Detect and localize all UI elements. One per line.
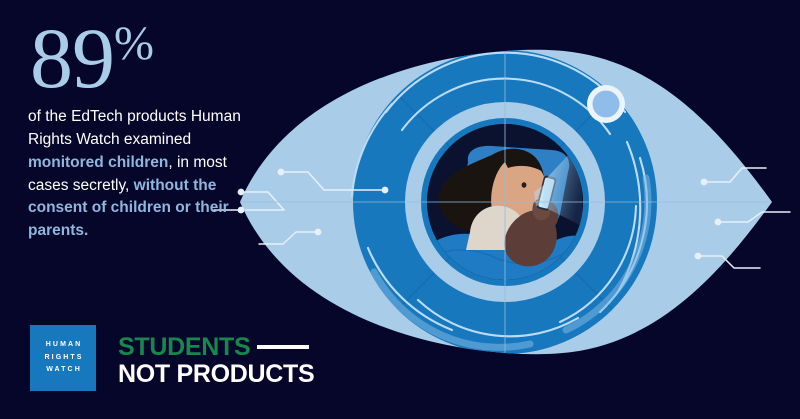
campaign-word-students: STUDENTS xyxy=(118,333,250,362)
body-copy: of the EdTech products Human Rights Watc… xyxy=(28,106,260,244)
stat-percentage: 89% xyxy=(30,18,278,100)
hrw-logo-line-1: HUMAN xyxy=(44,339,83,352)
hrw-logo-line-2: RIGHTS xyxy=(42,352,83,365)
camera-lens-highlight xyxy=(587,85,625,123)
campaign-wordmark: STUDENTS NOT PRODUCTS xyxy=(118,335,314,391)
campaign-word-not-products: NOT PRODUCTS xyxy=(118,360,314,389)
percent-sign: % xyxy=(114,17,154,70)
human-rights-watch-logo[interactable]: HUMAN RIGHTS WATCH xyxy=(30,325,96,391)
stat-value: 89 xyxy=(30,10,114,106)
infographic-poster: 89% of the EdTech products Human Rights … xyxy=(0,0,800,419)
logo-lockup: HUMAN RIGHTS WATCH STUDENTS NOT PRODUCTS xyxy=(30,325,314,391)
campaign-line-1: STUDENTS xyxy=(118,335,314,359)
body-copy-part-1: of the EdTech products Human Rights Watc… xyxy=(28,108,241,148)
hrw-logo-line-3: WATCH xyxy=(44,364,82,377)
stat-text-block: 89% of the EdTech products Human Rights … xyxy=(28,18,278,243)
body-copy-highlight-1: monitored children xyxy=(28,154,168,171)
campaign-rule-divider xyxy=(257,345,309,349)
